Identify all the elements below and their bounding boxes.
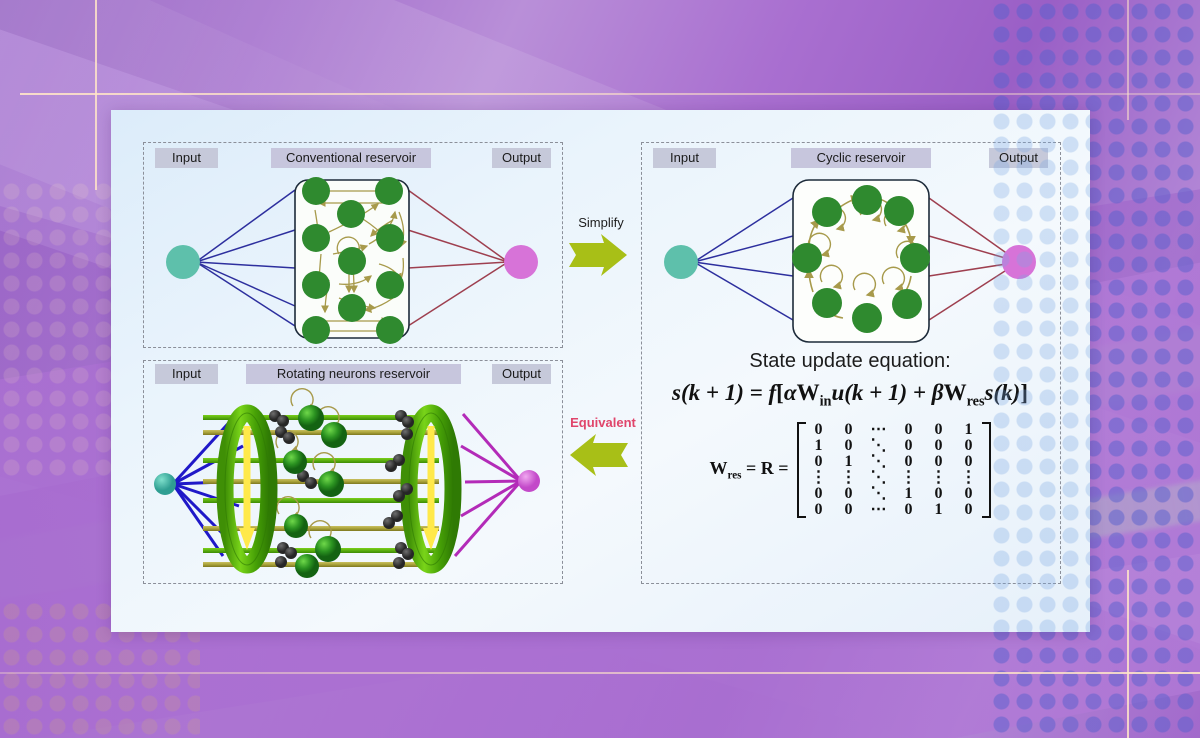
matrix-cell: ⋮ [924,470,954,486]
matrix-brackets: 00⋯00110⋱00001⋱000⋮⋮⋱⋮⋮⋮00⋱10000⋯010 [797,422,991,518]
matrix-cell: ⋱ [864,438,894,454]
cyclic-output-node [1002,245,1036,279]
crosshair-horizontal-top [20,93,1200,95]
matrix-cell: 0 [804,422,834,438]
equation-title: State update equation: [641,350,1059,373]
matrix-cell: 0 [894,454,924,470]
matrix-cell: 0 [954,502,984,518]
rotating-input-label: Input [155,364,218,384]
matrix-row: 00⋯001 [804,422,984,438]
rotating-neurons-reservoir-diagram [143,386,563,578]
matrix-label: Wres = R = [709,458,788,482]
output-weight-lines [408,190,508,326]
matrix-cell: 0 [954,454,984,470]
state-update-equation: s(k + 1) = f[αWinu(k + 1) + βWress(k)] [641,380,1059,411]
matrix-row: 00⋱100 [804,486,984,502]
matrix-cell: 1 [924,502,954,518]
cyclic-input-weight-lines [694,198,793,320]
matrix-row: ⋮⋮⋱⋮⋮⋮ [804,470,984,486]
matrix-cell: 0 [804,502,834,518]
matrix-cell: ⋯ [864,502,894,518]
matrix-cell: ⋱ [864,454,894,470]
input-node [166,245,200,279]
figure-card: Input Conventional reservoir Output [111,110,1090,632]
matrix-cell: 0 [924,454,954,470]
matrix-cell: ⋮ [804,470,834,486]
simplify-arrow-group: Simplify [566,215,636,278]
crosshair-vertical-top-left [95,0,97,190]
cyclic-reservoir-diagram [641,158,1061,348]
equivalent-arrow-group: Equivalent [563,415,643,478]
crosshair-vertical-bottom-right [1127,570,1129,738]
equation-block: State update equation: s(k + 1) = f[αWin… [641,350,1059,580]
equivalent-label: Equivalent [563,415,643,430]
rotating-output-node [518,470,540,492]
right-rotating-ring [409,413,453,565]
left-rotating-ring [225,413,269,565]
matrix-table: 00⋯00110⋱00001⋱000⋮⋮⋱⋮⋮⋮00⋱10000⋯010 [804,422,984,518]
matrix-cell: 0 [834,502,864,518]
rotating-title-label: Rotating neurons reservoir [246,364,461,384]
matrix-cell: ⋯ [864,422,894,438]
matrix-cell: 0 [894,438,924,454]
matrix-cell: 1 [834,454,864,470]
rotating-output-label: Output [492,364,551,384]
matrix-cell: ⋮ [834,470,864,486]
matrix-cell: ⋮ [894,470,924,486]
matrix-cell: 0 [924,486,954,502]
matrix-cell: 0 [804,486,834,502]
matrix-cell: 1 [894,486,924,502]
matrix-cell: 0 [924,438,954,454]
matrix-cell: 0 [894,422,924,438]
equivalent-arrow-icon [567,432,631,478]
matrix-cell: ⋱ [864,486,894,502]
matrix-equation: Wres = R = 00⋯00110⋱00001⋱000⋮⋮⋱⋮⋮⋮00⋱10… [641,422,1059,518]
matrix-cell: ⋱ [864,470,894,486]
matrix-cell: 0 [804,454,834,470]
conventional-reservoir-diagram [143,158,563,348]
matrix-cell: 0 [834,422,864,438]
simplify-arrow-icon [566,232,630,278]
matrix-cell: 0 [834,438,864,454]
crosshair-vertical-top-right [1127,0,1129,120]
matrix-cell: 0 [834,486,864,502]
matrix-cell: 0 [954,486,984,502]
output-node [504,245,538,279]
matrix-row: 00⋯010 [804,502,984,518]
crosshair-horizontal-bottom [0,672,1200,674]
matrix-row: 10⋱000 [804,438,984,454]
matrix-cell: 1 [804,438,834,454]
matrix-row: 01⋱000 [804,454,984,470]
cyclic-input-node [664,245,698,279]
matrix-cell: ⋮ [954,470,984,486]
rotating-output-weight-lines [455,414,521,556]
matrix-cell: 0 [954,438,984,454]
matrix-cell: 0 [924,422,954,438]
matrix-cell: 0 [894,502,924,518]
rotating-input-node [154,473,176,495]
input-weight-lines [196,190,295,326]
matrix-cell: 1 [954,422,984,438]
simplify-label: Simplify [566,215,636,230]
